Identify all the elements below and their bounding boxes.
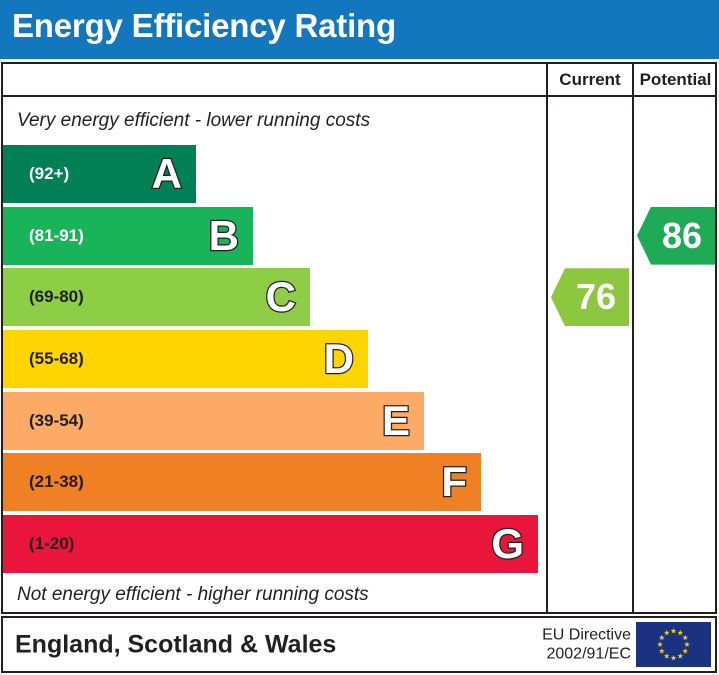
band-range-g: (1-20) bbox=[29, 534, 74, 554]
footer-directive-line2: 2002/91/EC bbox=[542, 645, 631, 665]
band-bar-a: (92+)A bbox=[3, 145, 196, 203]
footer-directive-line1: EU Directive bbox=[542, 625, 631, 645]
band-letter-e: E bbox=[382, 400, 410, 442]
column-header-current: Current bbox=[548, 64, 632, 95]
band-letter-d: D bbox=[324, 338, 354, 380]
band-bar-d: (55-68)D bbox=[3, 330, 368, 388]
page-title: Energy Efficiency Rating bbox=[12, 7, 396, 45]
band-bar-b: (81-91)B bbox=[3, 207, 253, 265]
footer-bar: England, Scotland & Wales EU Directive 2… bbox=[1, 616, 717, 673]
bands-chart: Very energy efficient - lower running co… bbox=[3, 97, 546, 614]
caption-efficient: Very energy efficient - lower running co… bbox=[17, 110, 370, 132]
band-letter-f: F bbox=[441, 461, 467, 503]
band-range-f: (21-38) bbox=[29, 472, 84, 492]
band-letter-c: C bbox=[266, 276, 296, 318]
current-rating-arrow: 76 bbox=[551, 268, 629, 326]
band-range-a: (92+) bbox=[29, 164, 69, 184]
band-letter-g: G bbox=[491, 523, 524, 565]
band-range-b: (81-91) bbox=[29, 226, 84, 246]
footer-region-label: England, Scotland & Wales bbox=[15, 630, 336, 659]
band-bar-f: (21-38)F bbox=[3, 453, 481, 511]
rating-table: Current Potential Very energy efficient … bbox=[1, 62, 717, 614]
column-header-row: Current Potential bbox=[3, 64, 715, 97]
band-bar-c: (69-80)C bbox=[3, 268, 310, 326]
band-range-d: (55-68) bbox=[29, 349, 84, 369]
eu-flag-icon bbox=[636, 622, 711, 667]
band-letter-a: A bbox=[152, 153, 182, 195]
potential-rating-value: 86 bbox=[662, 215, 702, 257]
band-bar-list: (92+)A(81-91)B(69-80)C(55-68)D(39-54)E(2… bbox=[3, 143, 546, 575]
band-letter-b: B bbox=[209, 215, 239, 257]
band-range-e: (39-54) bbox=[29, 411, 84, 431]
potential-rating-arrow: 86 bbox=[637, 207, 715, 265]
title-bar: Energy Efficiency Rating bbox=[0, 0, 719, 59]
caption-inefficient: Not energy efficient - higher running co… bbox=[17, 584, 369, 606]
column-divider-potential bbox=[632, 64, 634, 612]
band-range-c: (69-80) bbox=[29, 287, 84, 307]
current-rating-value: 76 bbox=[576, 276, 616, 318]
epc-certificate: Energy Efficiency Rating Current Potenti… bbox=[0, 0, 719, 675]
footer-directive: EU Directive 2002/91/EC bbox=[542, 625, 631, 664]
column-header-potential: Potential bbox=[634, 64, 717, 95]
column-divider-current bbox=[546, 64, 548, 612]
band-bar-e: (39-54)E bbox=[3, 392, 424, 450]
band-bar-g: (1-20)G bbox=[3, 515, 538, 573]
